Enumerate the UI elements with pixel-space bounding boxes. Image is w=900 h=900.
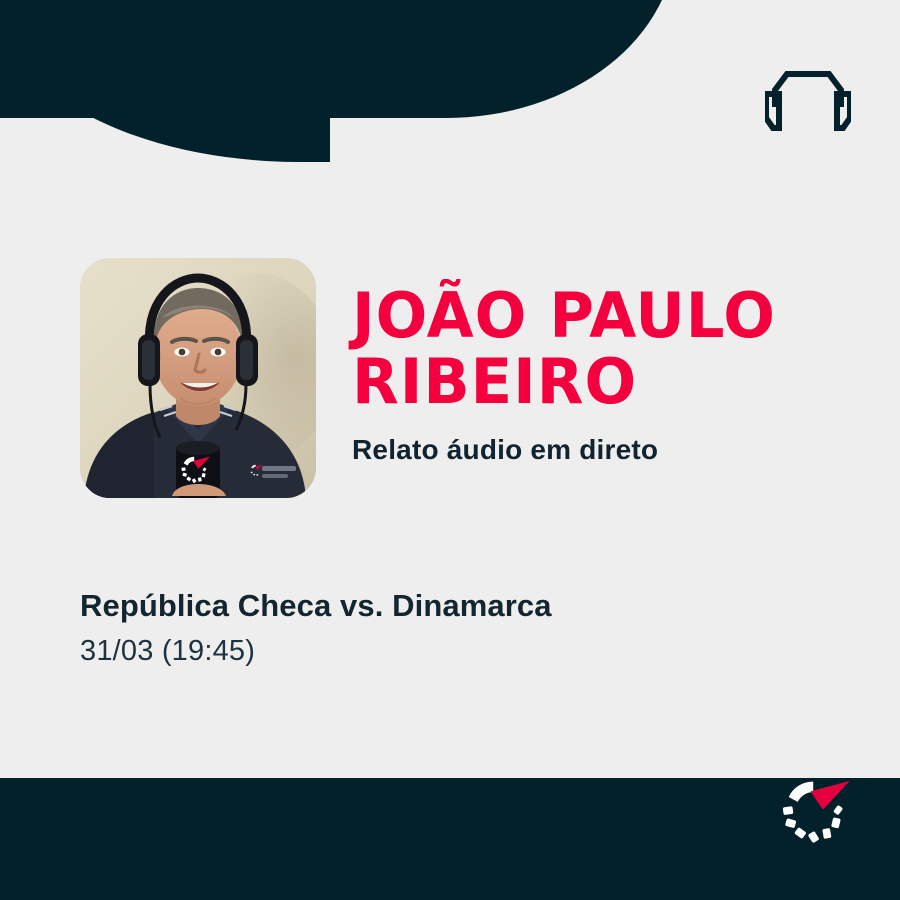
headphones-icon bbox=[765, 60, 851, 138]
match-fixture: República Checa vs. Dinamarca bbox=[80, 586, 780, 626]
presenter-name-line-1: JOÃO PAULO bbox=[352, 283, 862, 349]
presenter-photo bbox=[80, 258, 316, 498]
broadcast-promo-card: JOÃO PAULO RIBEIRO Relato áudio em diret… bbox=[0, 0, 900, 900]
match-info-block: República Checa vs. Dinamarca 31/03 (19:… bbox=[80, 586, 780, 670]
headline-block: JOÃO PAULO RIBEIRO Relato áudio em diret… bbox=[352, 283, 872, 467]
presenter-role: Relato áudio em direto bbox=[352, 433, 872, 467]
brand-logo-icon bbox=[781, 776, 851, 846]
presenter-name-line-2: RIBEIRO bbox=[352, 349, 862, 415]
bottom-dark-band bbox=[0, 778, 900, 900]
match-datetime: 31/03 (19:45) bbox=[80, 632, 780, 670]
top-dark-band bbox=[0, 0, 676, 118]
